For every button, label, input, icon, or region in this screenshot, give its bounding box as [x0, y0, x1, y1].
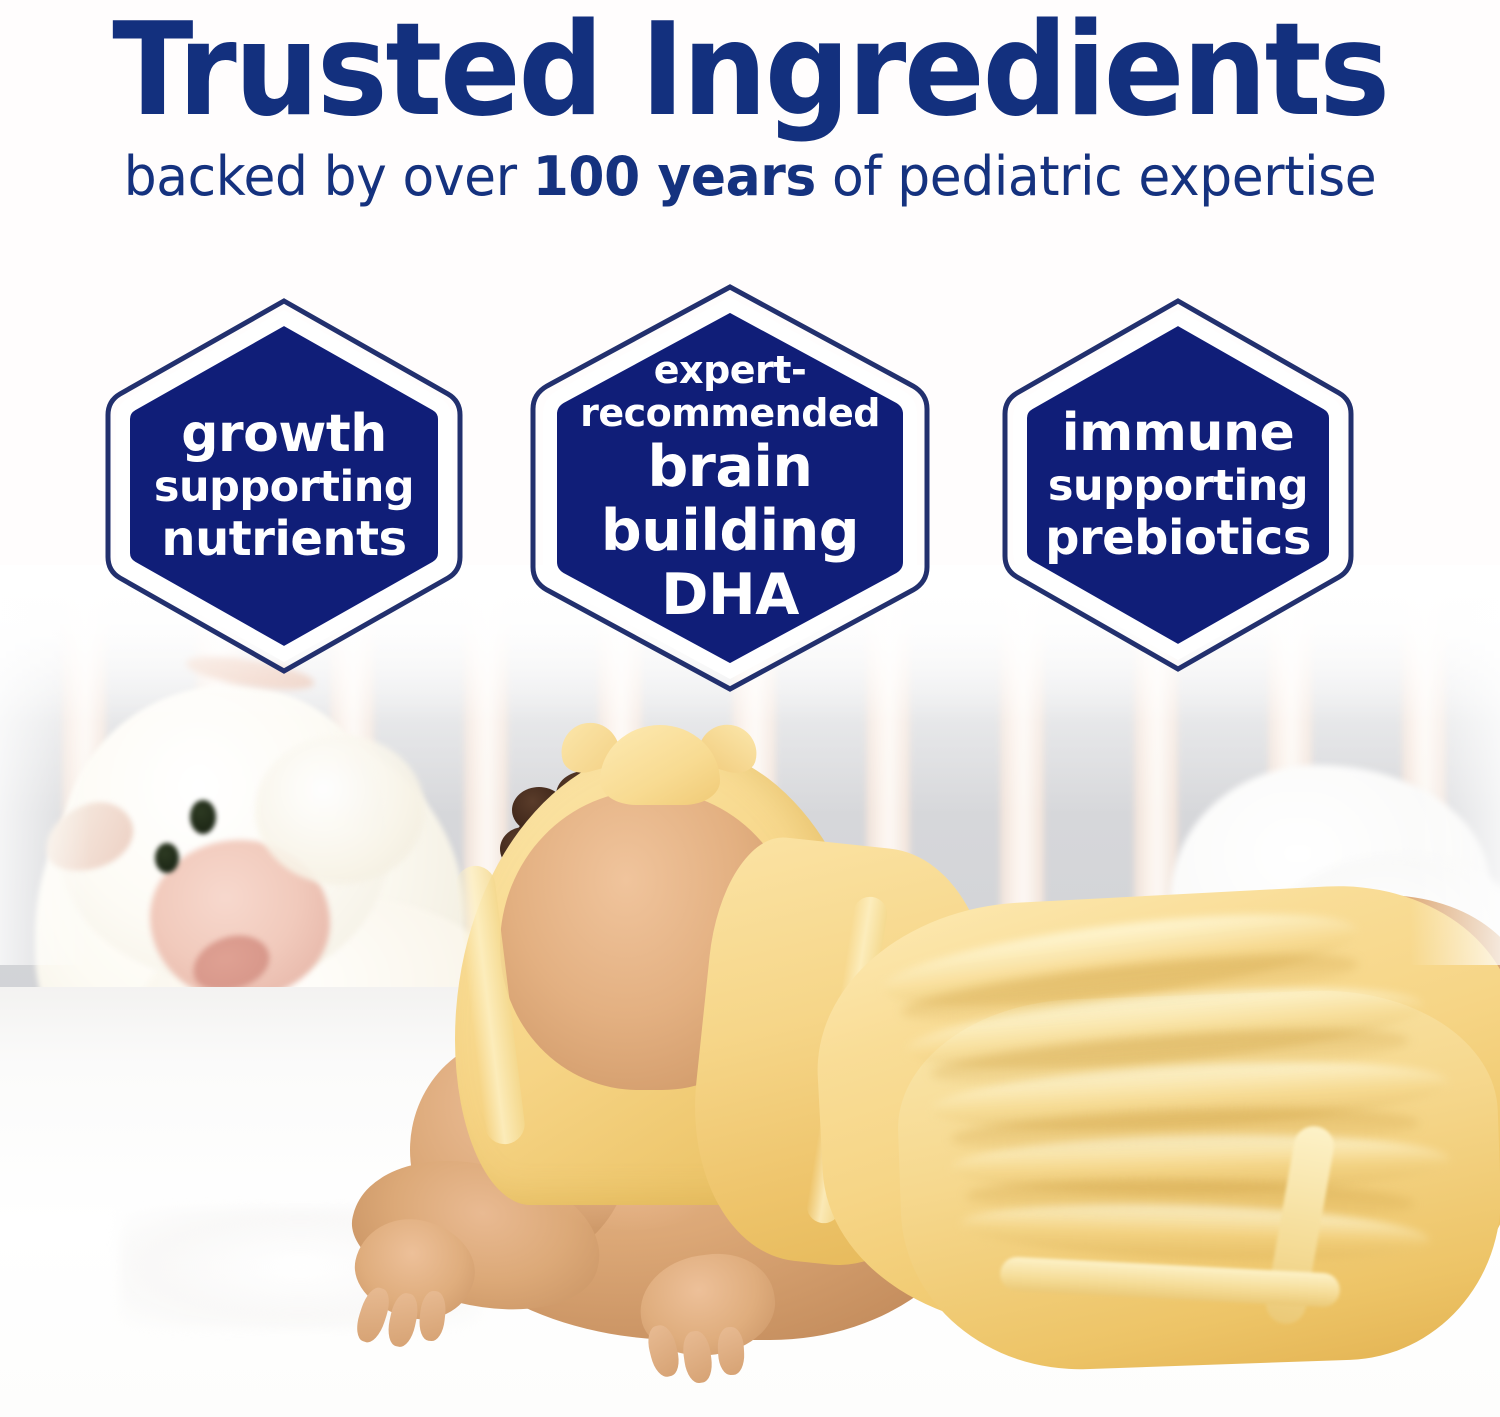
badge-line: nutrients: [117, 512, 451, 566]
badge-line: brain: [542, 435, 918, 499]
badge-line: recommended: [542, 391, 918, 435]
immune-supporting-prebiotics-badge: immune supporting prebiotics: [1000, 296, 1356, 674]
promo-image: Trusted Ingredients backed by over 100 y…: [0, 0, 1500, 1417]
badge-line: supporting: [117, 462, 451, 512]
badge-line: building: [542, 499, 918, 563]
badge-line: supporting: [1014, 461, 1342, 511]
benefit-badges: growth supporting nutrients expert- reco…: [0, 0, 1500, 720]
expert-recommended-brain-building-dha-badge: expert- recommended brain building DHA: [528, 282, 932, 694]
growth-supporting-nutrients-badge: growth supporting nutrients: [103, 296, 465, 676]
badge-line: prebiotics: [1014, 511, 1342, 565]
badge-line: immune: [1014, 405, 1342, 461]
badge-line: growth: [117, 406, 451, 462]
badge-line: DHA: [542, 563, 918, 627]
badge-line: expert-: [542, 349, 918, 391]
